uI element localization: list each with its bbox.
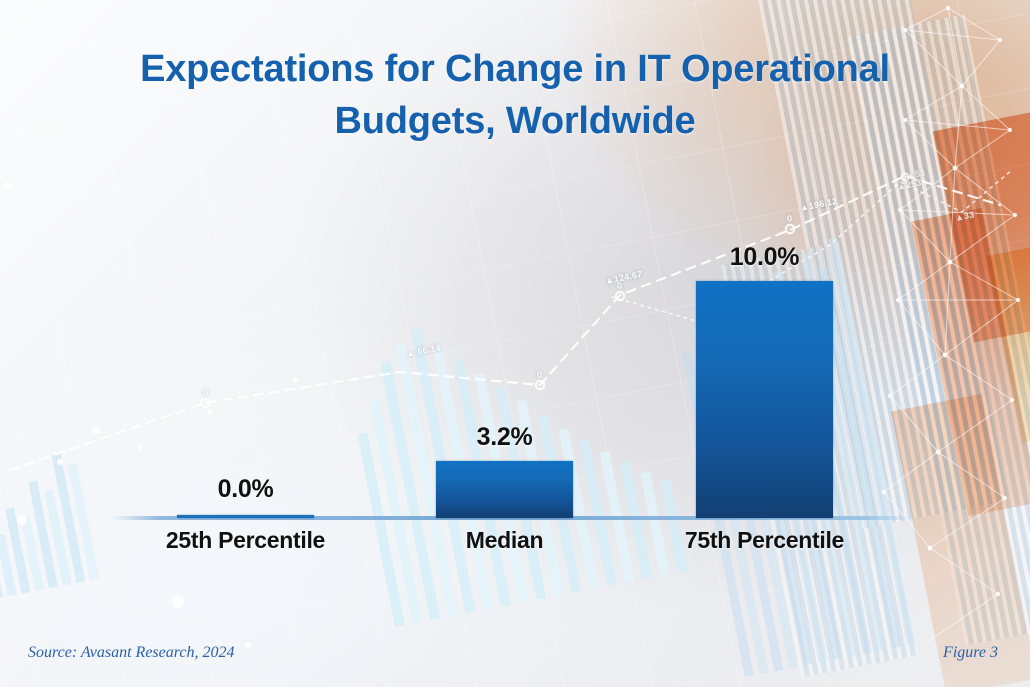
- bar-value-label-75th: 10.0%: [670, 243, 859, 272]
- chart-plot-area: 0.0% 3.2% 10.0% 25th Percentile Median 7…: [0, 0, 1030, 687]
- category-label-25th: 25th Percentile: [123, 527, 368, 554]
- category-label-75th: 75th Percentile: [642, 527, 887, 554]
- bar-value-label-25th: 0.0%: [151, 475, 340, 504]
- bar-25th-percentile[interactable]: [177, 515, 314, 518]
- figure-number: Figure 3: [943, 644, 998, 662]
- bar-75th-percentile[interactable]: [696, 281, 833, 518]
- bar-value-label-median: 3.2%: [410, 423, 599, 452]
- bar-median[interactable]: [436, 461, 573, 518]
- category-label-median: Median: [382, 527, 627, 554]
- figure-container: ▲ 66.14 ▲124.67 ▲196.12 ▲253 ▲33 ▲53 0 0…: [0, 0, 1030, 687]
- source-note: Source: Avasant Research, 2024: [28, 644, 234, 662]
